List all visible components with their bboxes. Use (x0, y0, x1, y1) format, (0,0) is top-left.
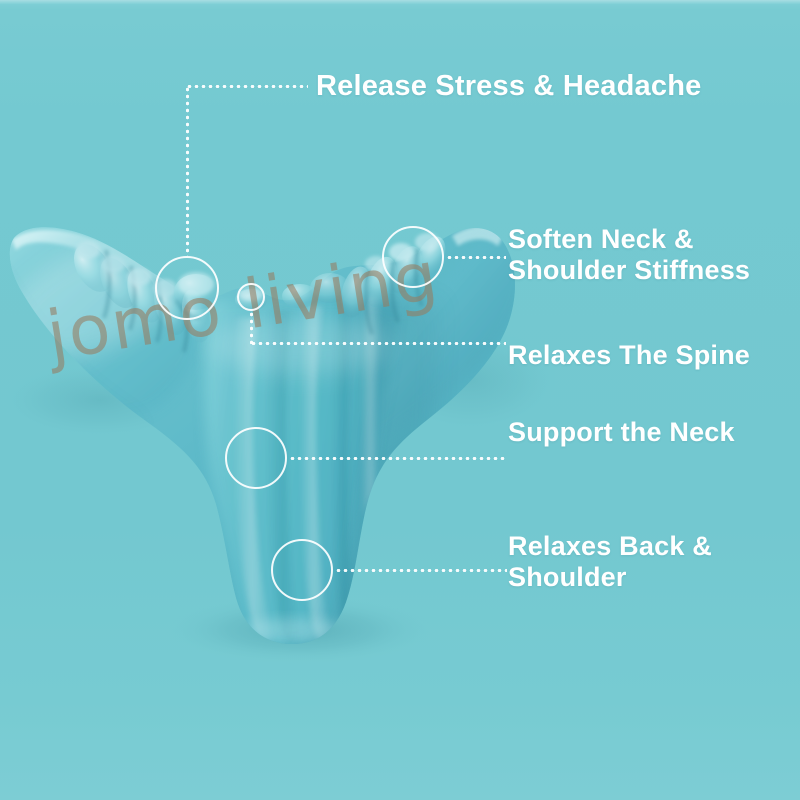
callout-leader-release-stress-horizontal (186, 85, 308, 88)
callout-label-relaxes-spine: Relaxes The Spine (508, 340, 750, 371)
product-infographic: jomo living Release Stress & Headache So… (0, 0, 800, 800)
callout-label-release-stress: Release Stress & Headache (316, 70, 701, 104)
callout-leader-support-neck (289, 457, 507, 460)
callout-leader-soften-neck (446, 256, 506, 259)
callout-circle-relaxes-back (271, 539, 333, 601)
callout-circle-release-stress (155, 256, 219, 320)
callout-layer: Release Stress & Headache Soften Neck & … (0, 0, 800, 800)
callout-leader-relaxes-spine-vertical (250, 311, 253, 344)
callout-circle-support-neck (225, 427, 287, 489)
callout-circle-soften-neck (382, 226, 444, 288)
callout-label-relaxes-back: Relaxes Back & Shoulder (508, 531, 712, 594)
callout-leader-relaxes-spine-horizontal (250, 342, 506, 345)
callout-label-soften-neck: Soften Neck & Shoulder Stiffness (508, 224, 750, 287)
callout-circle-relaxes-spine (237, 283, 265, 311)
callout-leader-relaxes-back (335, 569, 507, 572)
callout-leader-release-stress-vertical (186, 86, 189, 256)
callout-label-support-neck: Support the Neck (508, 417, 735, 448)
